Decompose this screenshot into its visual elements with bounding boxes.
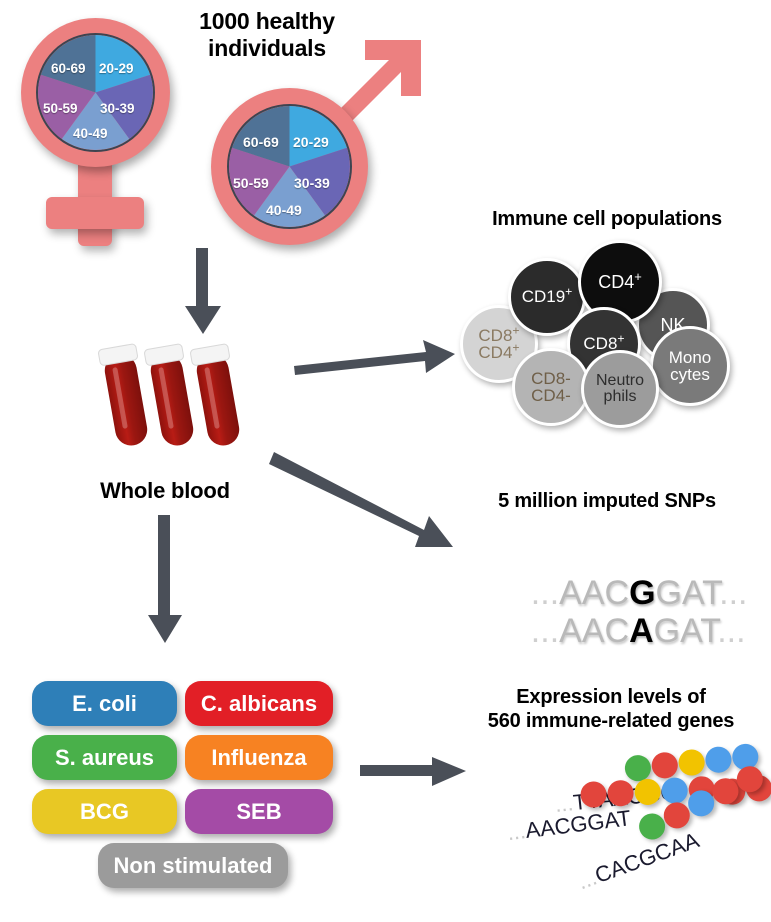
expression-heading-line-2: 560 immune-related genes <box>455 710 767 734</box>
age-pie-male: 20-29 30-39 40-49 50-59 60-69 <box>227 104 352 229</box>
immune-cell-monocytes: Mono cytes <box>650 326 730 406</box>
stimulus-pill-c-albicans[interactable]: C. albicans <box>185 681 333 726</box>
expression-heading: Expression levels of 560 immune-related … <box>455 686 767 733</box>
immune-cell-cd8neg-cd4neg-line2: CD4- <box>531 386 571 405</box>
expression-heading-line-1: Expression levels of <box>455 686 767 710</box>
immune-cell-neutrophils-line2: phils <box>604 388 637 405</box>
snp-allele-2-right: GAT <box>654 612 718 650</box>
snp-allele-2-left: AAC <box>559 612 629 650</box>
snp-allele-2: ...AACAGAT... <box>493 573 746 690</box>
snp-allele-2-variant: A <box>629 612 654 650</box>
stimulus-pill-seb[interactable]: SEB <box>185 789 333 834</box>
age-label-male-20-29: 20-29 <box>293 134 329 150</box>
immune-cell-monocytes-line1: Mono <box>669 348 712 367</box>
age-label-60-69: 60-69 <box>51 61 86 76</box>
immune-cell-cd8neg-cd4neg: CD8- CD4- <box>512 348 590 426</box>
immune-cell-cd8pos-cd4pos-line2: CD4 <box>478 343 512 362</box>
figure-canvas: 1000 healthy individuals 20-29 30-39 40-… <box>0 0 771 922</box>
age-label-male-40-49: 40-49 <box>266 202 302 218</box>
stimulus-pill-non-stimulated[interactable]: Non stimulated <box>98 843 288 888</box>
arrow-down-blood-to-stimuli <box>140 515 190 645</box>
snp-allele-2-suffix-dots: ... <box>717 612 745 650</box>
whole-blood-label: Whole blood <box>80 478 250 504</box>
stimulus-pill-s-aureus[interactable]: S. aureus <box>32 735 177 780</box>
stimulus-pill-e-coli[interactable]: E. coli <box>32 681 177 726</box>
arrow-right-blood-to-immune-cells <box>292 330 457 380</box>
female-gender-symbol: 20-29 30-39 40-49 50-59 60-69 <box>10 14 200 254</box>
age-label-40-49: 40-49 <box>73 126 108 141</box>
immune-cell-cd19-sup1: + <box>565 285 572 299</box>
snps-heading: 5 million imputed SNPs <box>452 490 762 514</box>
immune-cell-cd8pos-cd4pos-sup2: + <box>512 340 519 354</box>
immune-cell-neutrophils: Neutro phils <box>581 350 659 428</box>
stimulus-pill-influenza[interactable]: Influenza <box>185 735 333 780</box>
expression-bead <box>633 777 662 806</box>
immune-cell-cd4-sup1: + <box>634 269 642 284</box>
age-label-male-30-39: 30-39 <box>294 175 330 191</box>
immune-cell-neutrophils-line1: Neutro <box>596 372 644 389</box>
male-gender-symbol: 20-29 30-39 40-49 50-59 60-69 <box>197 30 427 250</box>
immune-cell-cd8pos-cd4pos-line1: CD8 <box>478 326 512 345</box>
immune-cell-cd4-line1: CD4 <box>598 272 634 292</box>
arrow-diagonal-blood-to-snps <box>272 448 457 553</box>
immune-cell-cd8-sup1: + <box>617 332 624 346</box>
age-label-50-59: 50-59 <box>43 101 78 116</box>
immune-cell-cd8neg-cd4neg-line1: CD8- <box>531 369 571 388</box>
snp-allele-2-prefix-dots: ... <box>531 612 559 650</box>
arrow-right-stimuli-to-expression <box>360 752 470 792</box>
immune-cell-cd19-line1: CD19 <box>522 287 565 306</box>
stimulus-pill-bcg[interactable]: BCG <box>32 789 177 834</box>
age-pie-female: 20-29 30-39 40-49 50-59 60-69 <box>36 33 155 152</box>
whole-blood-tubes-icon <box>96 340 266 460</box>
immune-cell-cd8pos-cd4pos-sup1: + <box>512 323 519 337</box>
arrow-down-cohort-to-blood <box>178 248 228 338</box>
immune-cell-monocytes-line2: cytes <box>670 365 710 384</box>
female-symbol-stem-horizontal <box>46 197 144 229</box>
age-label-male-60-69: 60-69 <box>243 134 279 150</box>
age-label-30-39: 30-39 <box>100 101 135 116</box>
age-label-20-29: 20-29 <box>99 61 134 76</box>
age-label-male-50-59: 50-59 <box>233 175 269 191</box>
immune-cells-heading: Immune cell populations <box>452 208 762 232</box>
